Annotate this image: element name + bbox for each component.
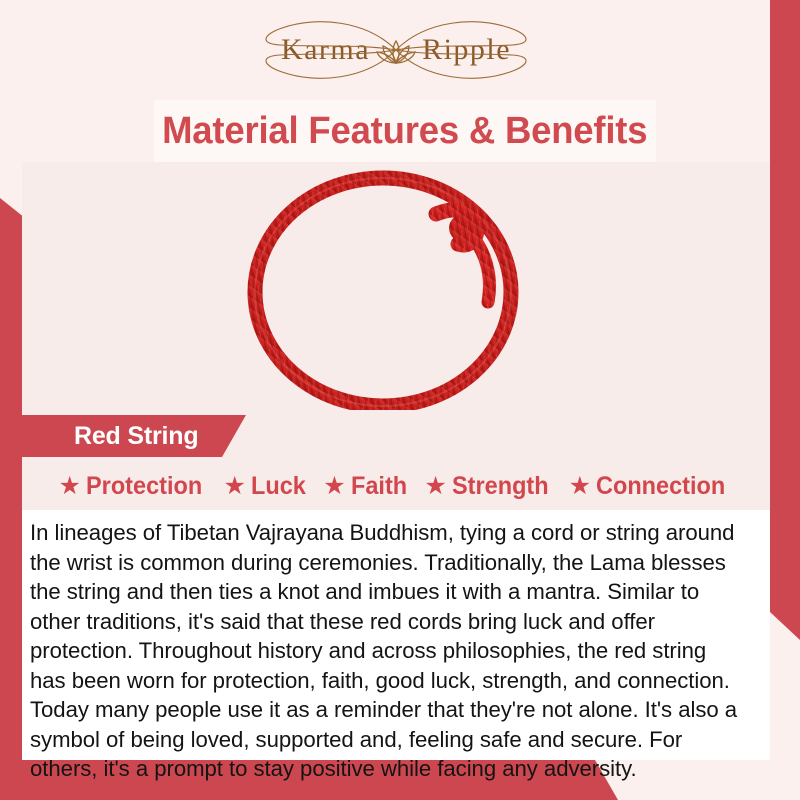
brand-name-left: Karma bbox=[281, 35, 370, 65]
infographic-page: Karma Ripple Material Features & Benefit… bbox=[0, 0, 800, 800]
description-text: In lineages of Tibetan Vajrayana Buddhis… bbox=[30, 518, 745, 784]
benefit-label: Luck bbox=[251, 472, 306, 501]
content-panel: Karma Ripple Material Features & Benefit… bbox=[22, 0, 770, 760]
benefit-item-protection: ★ Protection bbox=[58, 472, 209, 501]
star-icon: ★ bbox=[424, 474, 446, 499]
lotus-icon bbox=[376, 33, 416, 67]
benefit-label: Connection bbox=[596, 472, 725, 501]
material-label-text: Red String bbox=[22, 422, 198, 451]
benefit-item-connection: ★ Connection bbox=[569, 472, 734, 501]
star-icon: ★ bbox=[58, 474, 80, 499]
description-section: In lineages of Tibetan Vajrayana Buddhis… bbox=[22, 510, 770, 760]
brand-logo: Karma Ripple bbox=[281, 33, 511, 67]
red-string-bracelet-illustration bbox=[136, 162, 656, 410]
star-icon: ★ bbox=[224, 474, 246, 499]
benefit-label: Faith bbox=[351, 472, 407, 501]
material-label-row: Red String bbox=[22, 410, 770, 462]
benefit-list: ★ Protection ★ Luck ★ Faith ★ Strength ★… bbox=[22, 462, 770, 510]
benefit-item-faith: ★ Faith bbox=[323, 472, 410, 501]
benefit-label: Protection bbox=[86, 472, 202, 501]
material-label-chip: Red String bbox=[22, 415, 246, 457]
title-banner: Material Features & Benefits bbox=[154, 100, 656, 162]
page-title: Material Features & Benefits bbox=[162, 110, 647, 153]
benefit-item-luck: ★ Luck bbox=[224, 472, 310, 501]
star-icon: ★ bbox=[323, 474, 345, 499]
benefit-item-strength: ★ Strength bbox=[424, 472, 554, 501]
benefit-label: Strength bbox=[452, 472, 549, 501]
product-image bbox=[22, 162, 770, 410]
star-icon: ★ bbox=[569, 474, 591, 499]
ribbon-right-decoration bbox=[770, 0, 800, 640]
brand-header: Karma Ripple bbox=[22, 0, 770, 100]
brand-name-right: Ripple bbox=[422, 35, 511, 65]
